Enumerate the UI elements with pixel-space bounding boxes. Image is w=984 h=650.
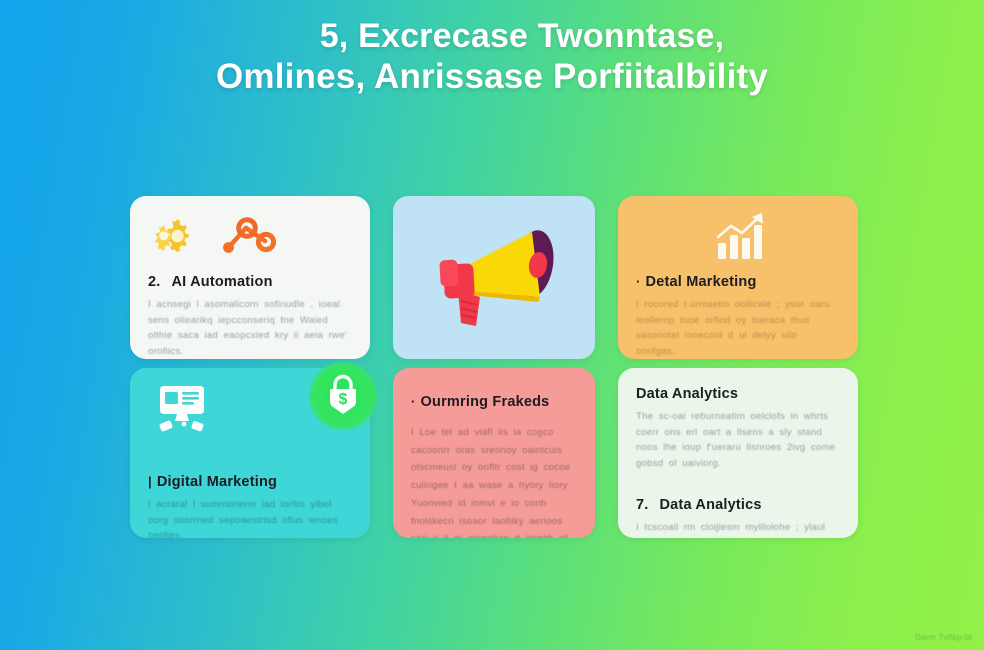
monitor-screen-icon: [152, 381, 212, 442]
card-heading-text: Detal Marketing: [646, 274, 757, 290]
bar-chart-growth-icon: [706, 211, 770, 268]
card-data-analytics[interactable]: Data Analytics The sc-oai reburneatim oe…: [618, 368, 858, 538]
title-line-1: 5, Excrecase Twonntase,: [70, 16, 914, 56]
card-detal-marketing[interactable]: ·Detal Marketing I rocored t.urmaetin oo…: [618, 196, 858, 359]
card-heading-text: Data Analytics: [636, 386, 738, 402]
infographic-canvas: 5, Excrecase Twonntase, Omlines, Anrissa…: [0, 0, 984, 650]
gears-icon: [152, 215, 204, 264]
card-body-text: I acraral l summorierm iad iorltis yibel…: [148, 497, 352, 538]
card-bullet: ·: [411, 394, 416, 409]
card-heading-text: AI Automation: [172, 274, 273, 290]
lock-dollar-icon: $: [323, 373, 363, 420]
card-heading: |Digital Marketing: [148, 474, 352, 490]
card-outgoing-frakeds[interactable]: ·Ourmring Frakeds I Loe tel ad viafl lis…: [393, 368, 595, 538]
card-heading: 2.AI Automation: [148, 274, 352, 290]
card-heading: ·Detal Marketing: [636, 274, 840, 290]
watermark: Germ Tvfikp-bt: [915, 633, 972, 642]
title-line-2: Omlines, Anrissase Porfiitalbility: [70, 56, 914, 97]
card-heading-text: Data Analytics: [660, 497, 762, 513]
card-body-text: The sc-oai reburneatim oelclofs in whrts…: [636, 409, 840, 471]
card-ai-automation[interactable]: 2.AI Automation I acnsegi l asomalicorn …: [130, 196, 370, 359]
card-heading-text: Digital Marketing: [157, 474, 277, 490]
network-nodes-icon: [220, 217, 276, 262]
card-heading: Data Analytics: [636, 386, 840, 402]
money-lock-badge[interactable]: $: [309, 362, 377, 430]
page-title: 5, Excrecase Twonntase, Omlines, Anrissa…: [0, 16, 984, 97]
card-bullet: |: [148, 474, 152, 489]
card-heading-secondary: 7.Data Analytics: [636, 497, 840, 513]
card-bullet: ·: [636, 274, 641, 289]
svg-text:$: $: [339, 391, 348, 408]
card-body-text: I rocored t.urmaetin oollicale ; ysur oa…: [636, 297, 840, 359]
card-body-text-secondary: I tcscoall rm cloijlesm mylllolohe ; yla…: [636, 520, 840, 538]
megaphone-icon: [414, 219, 574, 339]
card-megaphone[interactable]: [393, 196, 595, 359]
card-number: 7.: [636, 497, 649, 513]
card-grid: 2.AI Automation I acnsegi l asomalicorn …: [130, 196, 858, 538]
card-body-text: I Loe tel ad viafl lis ia cogco cacoonrr…: [411, 424, 577, 538]
card-icon-row: [636, 212, 840, 266]
card-icon-row: [152, 212, 352, 266]
card-number: 2.: [148, 274, 161, 290]
card-body-text: I acnsegi l asomalicorn sofinudle , ioea…: [148, 297, 352, 359]
card-heading: ·Ourmring Frakeds: [411, 394, 577, 410]
card-heading-text: Ourmring Frakeds: [421, 394, 550, 410]
